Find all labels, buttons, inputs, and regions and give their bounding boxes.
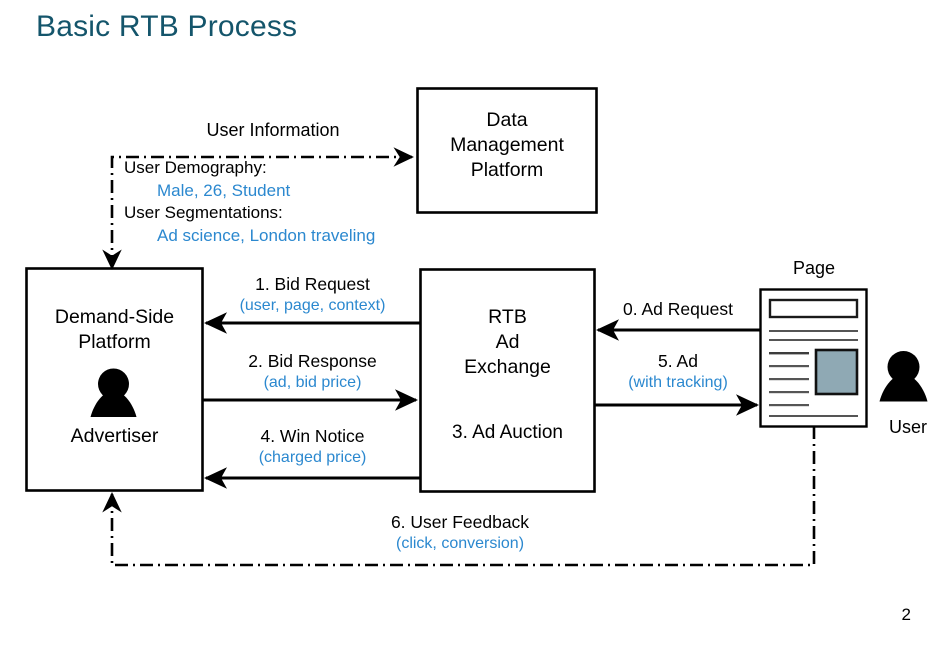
user-caption: User (868, 415, 947, 440)
rtb-box (421, 270, 595, 492)
page-caption: Page (760, 256, 868, 281)
flow-detail-user-feedback: (click, conversion) (290, 533, 630, 554)
flow-detail-ad-delivery: (with tracking) (598, 372, 758, 393)
dmp-label-line-3: Platform (471, 159, 544, 181)
dmp-label: Data Management Platform (418, 108, 596, 183)
dmp-label-line-1: Data (486, 109, 527, 131)
flow-label-ad-delivery: 5. Ad (with tracking) (598, 350, 758, 393)
page-title: Basic RTB Process (36, 10, 297, 44)
flow-title-ad-request: 0. Ad Request (598, 298, 758, 320)
flow-detail-bid-request: (user, page, context) (205, 295, 420, 316)
web-page-icon (761, 290, 867, 427)
dsp-label: Demand-Side Platform (27, 305, 202, 355)
user-demography-key: User Demography: (124, 157, 267, 179)
dsp-label-line-1: Demand-Side (55, 306, 174, 328)
flow-label-ad-request: 0. Ad Request (598, 298, 758, 320)
rtb-label-line-1: RTB (488, 306, 527, 328)
flow-title-win-notice: 4. Win Notice (205, 425, 420, 447)
advertiser-label: Advertiser (27, 424, 202, 449)
user-segmentation-key: User Segmentations: (124, 202, 283, 224)
dmp-label-line-2: Management (450, 134, 564, 156)
flow-label-bid-request: 1. Bid Request (user, page, context) (205, 273, 420, 316)
rtb-label: RTB Ad Exchange (421, 305, 594, 380)
ad-auction-label: 3. Ad Auction (421, 420, 594, 445)
flow-detail-win-notice: (charged price) (205, 447, 420, 468)
flow-title-user-feedback: 6. User Feedback (290, 511, 630, 533)
flow-title-bid-request: 1. Bid Request (205, 273, 420, 295)
flow-label-user-feedback: 6. User Feedback (click, conversion) (290, 511, 630, 554)
slide-canvas: Basic RTB Process Data Management Platfo… (0, 0, 947, 650)
rtb-label-line-2: Ad (496, 331, 520, 353)
rtb-label-line-3: Exchange (464, 356, 551, 378)
dsp-label-line-2: Platform (78, 331, 151, 353)
flow-label-win-notice: 4. Win Notice (charged price) (205, 425, 420, 468)
flow-title-ad-delivery: 5. Ad (598, 350, 758, 372)
user-person-icon (880, 351, 928, 402)
flow-label-bid-response: 2. Bid Response (ad, bid price) (205, 350, 420, 393)
user-segmentation-value: Ad science, London traveling (157, 225, 375, 247)
flow-title-bid-response: 2. Bid Response (205, 350, 420, 372)
slide-page-number: 2 (902, 605, 911, 625)
user-demography-value: Male, 26, Student (157, 180, 290, 202)
user-information-title: User Information (128, 119, 418, 141)
flow-detail-bid-response: (ad, bid price) (205, 372, 420, 393)
